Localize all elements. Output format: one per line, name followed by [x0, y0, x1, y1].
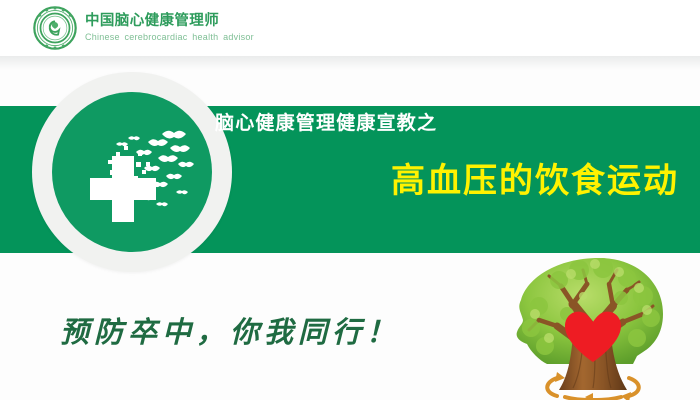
page-header: 中国脑心健康管理师 Chinese cerebrocardiac health … [0, 0, 700, 56]
slogan-text: 预防卒中，你我同行！ [60, 318, 400, 347]
slide-canvas: 中国脑心健康管理师 Chinese cerebrocardiac health … [0, 0, 700, 400]
organization-seal-logo [33, 6, 77, 50]
brand-lockup: 中国脑心健康管理师 Chinese cerebrocardiac health … [33, 6, 254, 50]
emblem-green-disc [52, 92, 212, 252]
tree-shaped-head-with-heart [487, 252, 687, 400]
title-block: 脑心健康管理健康宣教之 高血压的饮食运动 [215, 114, 685, 198]
brand-text-block: 中国脑心健康管理师 Chinese cerebrocardiac health … [85, 14, 254, 42]
page-title-main: 脑心健康管理健康宣教之 [215, 114, 685, 133]
header-divider-shadow [0, 56, 700, 70]
brand-name-cn: 中国脑心健康管理师 [85, 14, 254, 29]
brand-name-en: Chinese cerebrocardiac health advisor [85, 33, 254, 42]
cross-birds-emblem [32, 72, 232, 272]
page-title-sub: 高血压的饮食运动 [215, 164, 685, 198]
